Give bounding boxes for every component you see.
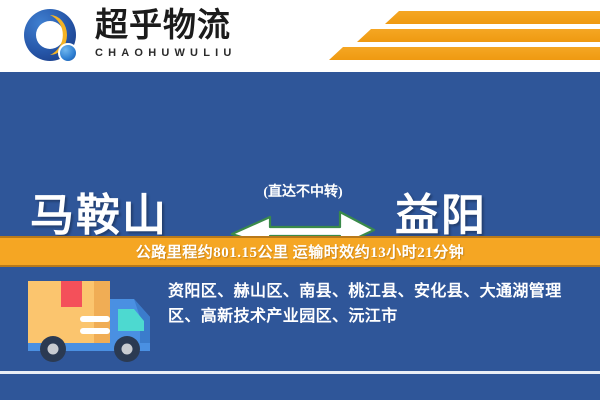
origin-city: 马鞍山 bbox=[30, 190, 168, 242]
stripe-bottom bbox=[329, 47, 600, 60]
stripe-middle bbox=[357, 29, 600, 42]
logo-accent-dot bbox=[58, 43, 78, 63]
route-panel: 马鞍山 (直达不中转) 【往返运输】 益阳 bbox=[0, 72, 600, 236]
brand-name-cn: 超乎物流 bbox=[95, 8, 275, 44]
coverage-panel: 资阳区、赫山区、南县、桃江县、安化县、大通湖管理区、高新技术产业园区、沅江市 bbox=[0, 267, 600, 400]
route-info-bar: 公路里程约801.15公里 运输时效约13小时21分钟 bbox=[0, 236, 600, 267]
destination-city: 益阳 bbox=[395, 190, 487, 242]
orange-speed-stripes-icon bbox=[310, 0, 600, 72]
logistics-route-banner: 超乎物流 CHAOHUWULIU 马鞍山 (直达不中转) 【往返运输】 益阳 公… bbox=[0, 0, 600, 400]
distance-duration-text: 公路里程约801.15公里 运输时效约13小时21分钟 bbox=[136, 241, 465, 262]
delivery-truck-icon bbox=[22, 273, 162, 373]
brand-lockup: 超乎物流 CHAOHUWULIU bbox=[95, 8, 275, 60]
banner-header: 超乎物流 CHAOHUWULIU bbox=[0, 0, 600, 72]
direct-route-label: (直达不中转) bbox=[228, 184, 378, 202]
chaohu-circle-logo-icon bbox=[24, 9, 82, 67]
stripe-top bbox=[385, 11, 600, 24]
ground-line bbox=[0, 371, 600, 374]
coverage-districts-text: 资阳区、赫山区、南县、桃江县、安化县、大通湖管理区、高新技术产业园区、沅江市 bbox=[168, 279, 586, 329]
brand-name-en: CHAOHUWULIU bbox=[95, 46, 275, 60]
